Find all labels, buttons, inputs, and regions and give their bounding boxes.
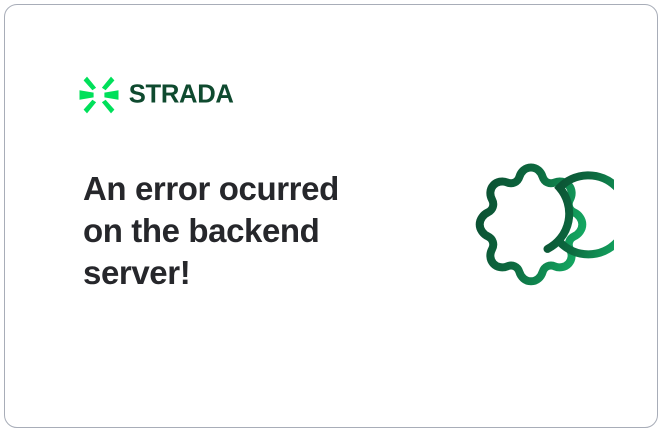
gear-icon [448, 142, 614, 308]
error-screen: STRADA An error ocurred on the backend s… [0, 0, 666, 436]
brand-wordmark-text: STRADA [129, 83, 234, 108]
brand-logo: STRADA [79, 73, 287, 117]
gear-illustration [448, 142, 614, 308]
brand-wordmark: STRADA [128, 83, 287, 108]
strada-asterisk-icon [79, 75, 119, 115]
error-card: STRADA An error ocurred on the backend s… [4, 4, 658, 428]
error-message: An error ocurred on the backend server! [83, 168, 383, 294]
